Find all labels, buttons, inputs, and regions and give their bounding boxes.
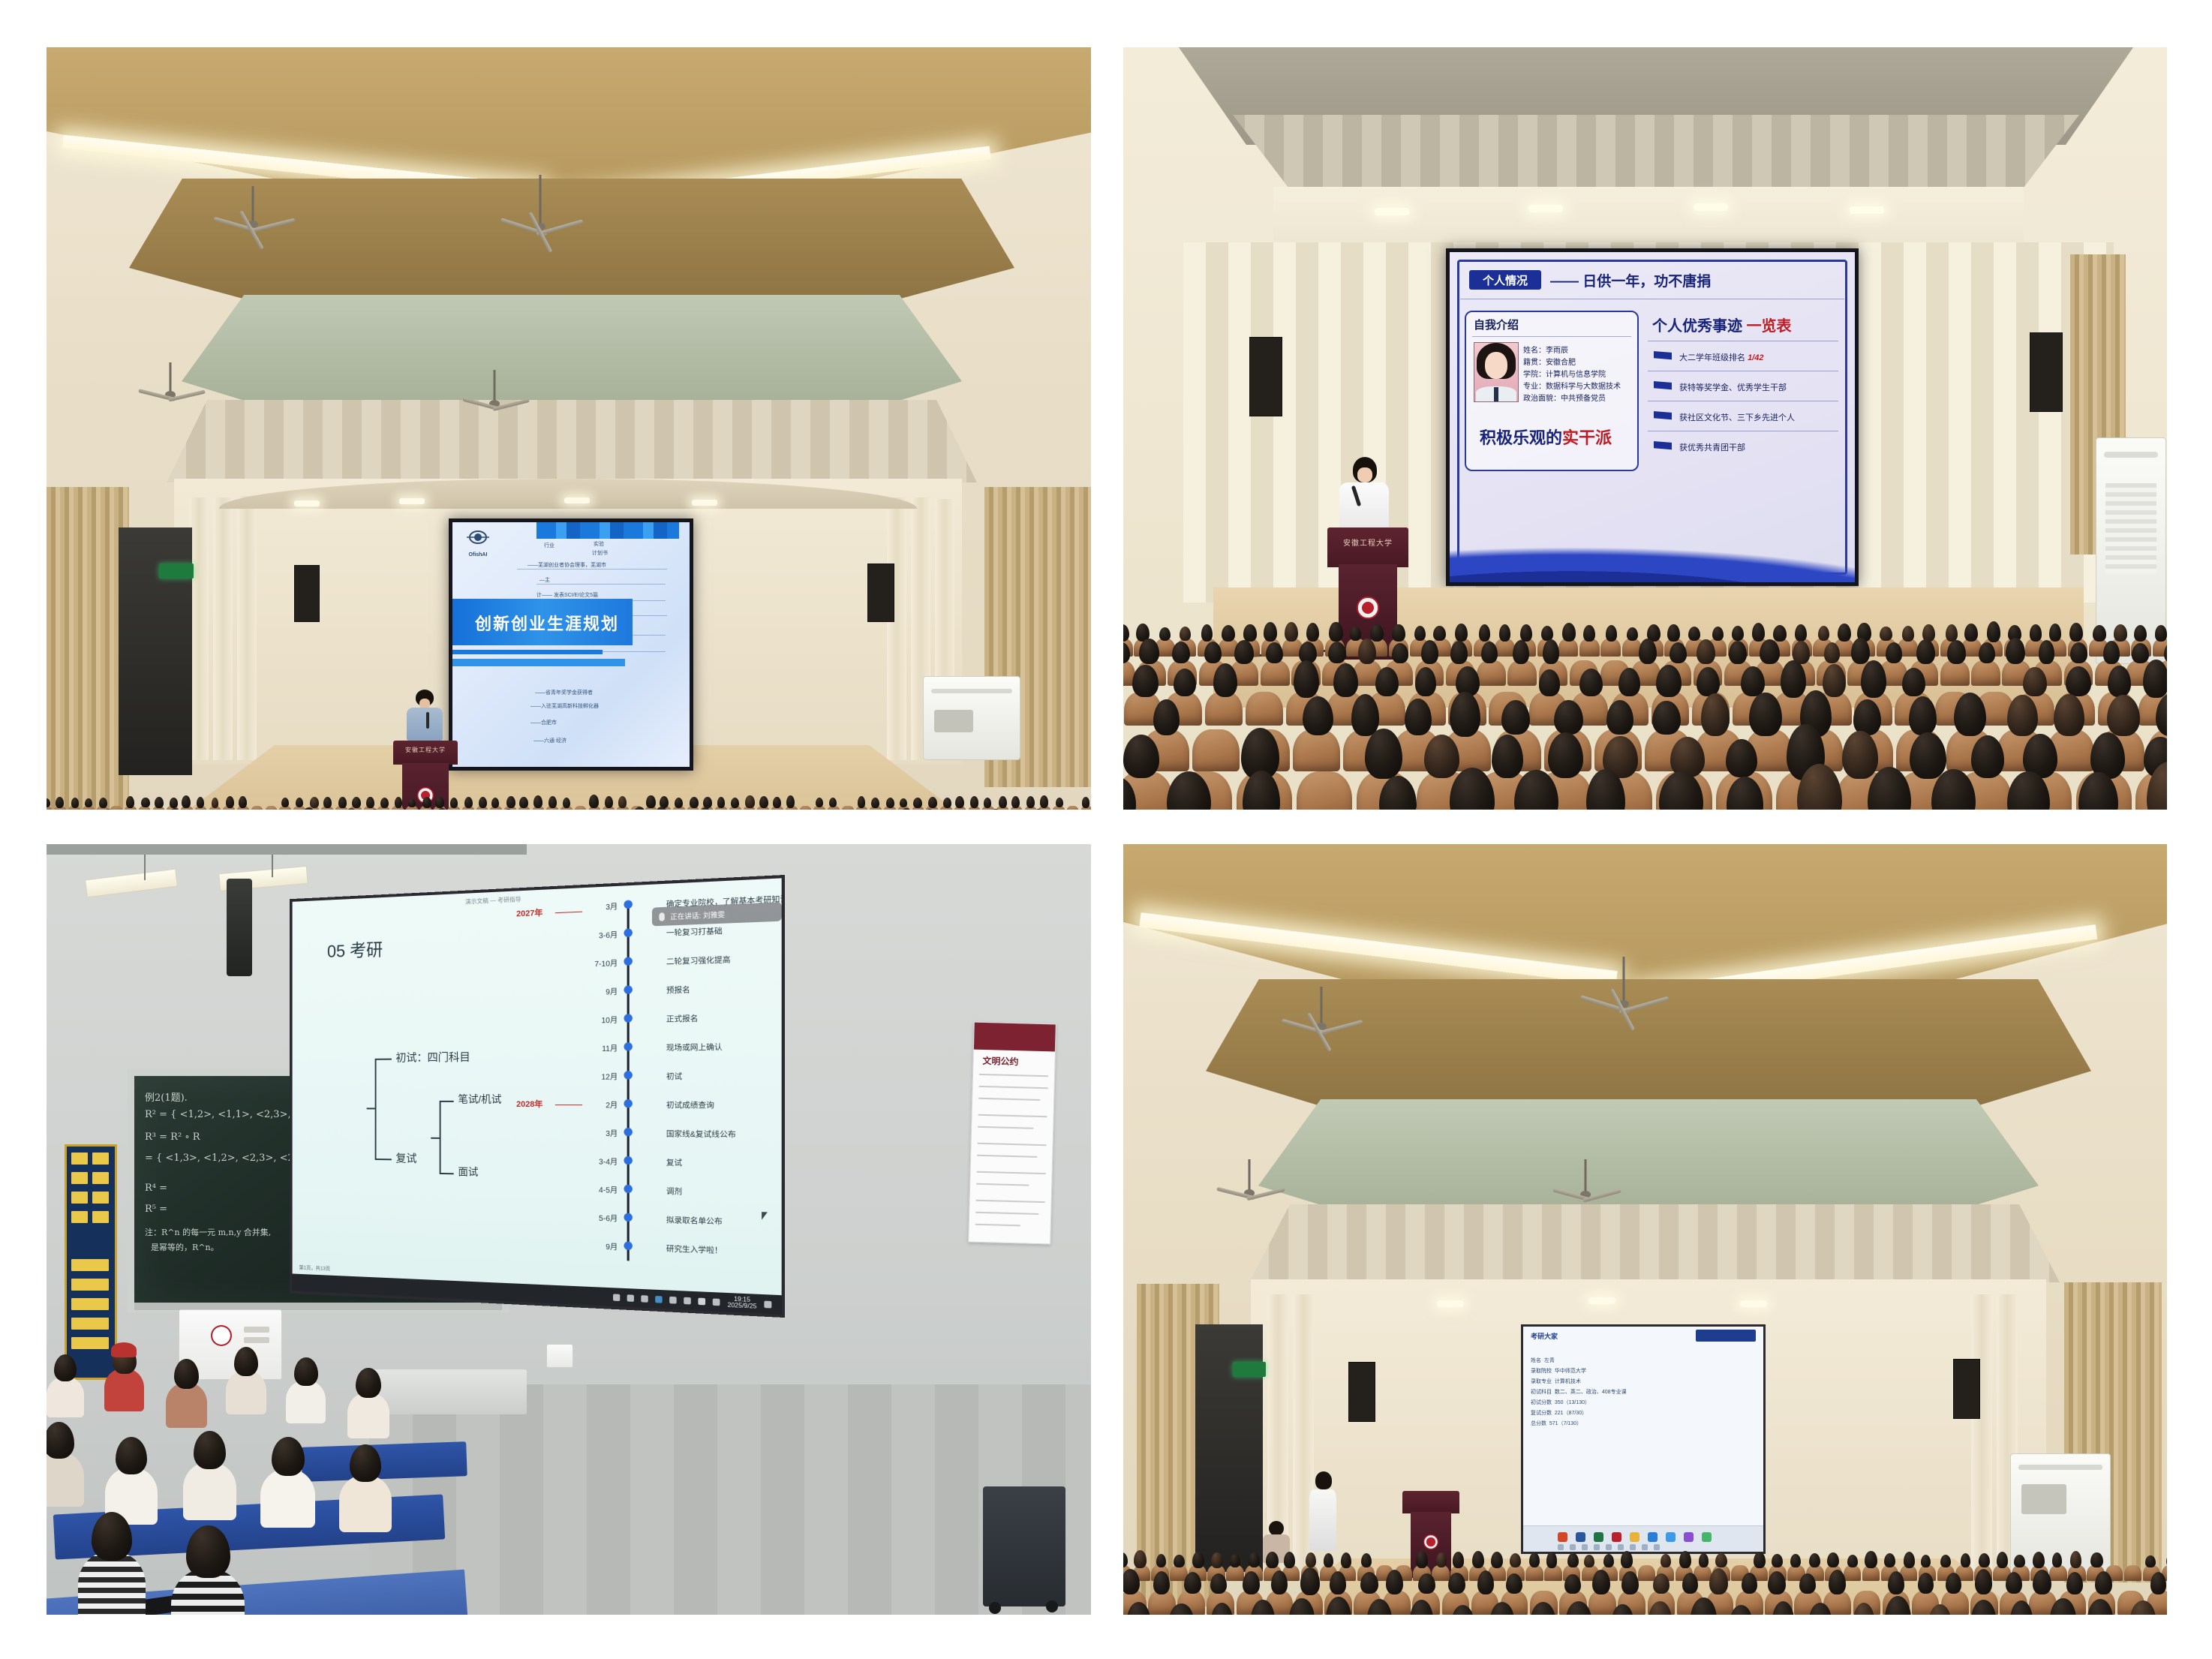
slide-line-2: 计—— 发表SCI/EI论文5篇: [536, 591, 598, 599]
profile-label-2: 学院：: [1523, 371, 1546, 379]
profile-value-1: 安徽合肥: [1546, 359, 1576, 367]
audience-head: [1405, 699, 1432, 735]
audience-head: [1172, 642, 1190, 663]
audience-head: [2107, 695, 2140, 735]
auditorium-seat: [110, 806, 123, 810]
audience-head: [1211, 1552, 1223, 1568]
projector-screen: 考研大家 姓名 左青 录取院校 华中师范大学 录取专业 计算机技术 初试科目 数…: [1521, 1324, 1766, 1554]
audience-head: [1082, 797, 1090, 807]
profile-row-1: 籍贯：安徽合肥: [1523, 356, 1576, 367]
auditorium-seat: [1226, 1565, 1244, 1581]
slide-wave-decoration: [1450, 503, 1855, 582]
student-torso: [226, 1371, 266, 1414]
timeline-month: 12月: [570, 1070, 618, 1082]
loudspeaker-icon: [294, 565, 320, 622]
tray-icon[interactable]: [1582, 1544, 1588, 1550]
audience-head: [2070, 642, 2087, 663]
slide-postgrad-timeline: 演示文稿 — 考研指导 05 考研 初试：四门科目 复试 笔试/机试 面试 20…: [293, 878, 782, 1314]
audience-head: [464, 797, 473, 808]
profile-value-2: 计算机与信息学院: [1546, 371, 1606, 379]
slide-line-7: ——入驻芜湖高新科技孵化器: [530, 702, 599, 710]
audience-head: [450, 798, 458, 808]
student-head: [350, 1444, 381, 1482]
display-icon[interactable]: [642, 1295, 648, 1303]
ceiling-rail: [47, 844, 527, 855]
slide-title-sub: 生涯规划: [547, 611, 619, 635]
timeline-event: 初试成绩查询: [666, 1098, 714, 1111]
audience-head: [1513, 640, 1529, 664]
ceiling-band-slats: [1206, 115, 2106, 197]
profile-row-2: 学院：计算机与信息学院: [1523, 368, 1606, 379]
audience-head: [1453, 1552, 1465, 1568]
app-icon[interactable]: [656, 1296, 663, 1303]
cursor-icon: [762, 1212, 771, 1220]
audience-head: [2006, 1572, 2022, 1594]
podium-venue-text: 安徽工程大学: [1327, 536, 1408, 548]
audience-head: [1918, 1573, 1934, 1594]
photo-panel-bottom-right: 考研大家 姓名 左青 录取院校 华中师范大学 录取专业 计算机技术 初试科目 数…: [1123, 844, 2167, 1615]
audience-head: [955, 796, 964, 808]
audience-head: [1829, 1570, 1847, 1594]
audience-head: [1652, 701, 1680, 735]
slide-row-0: 姓名 左青: [1531, 1357, 1555, 1364]
audience-head: [2132, 643, 2149, 663]
audience-head: [1243, 1571, 1260, 1594]
timeline-month: 2月: [570, 1098, 618, 1110]
podium-venue-text: 安徽工程大学: [393, 746, 458, 754]
auditorium-seat: [1261, 660, 1290, 687]
audience-head: [1234, 640, 1254, 663]
slide-tag: 个人情况: [1469, 270, 1541, 290]
auditorium-seat: [1600, 639, 1621, 657]
audience-head: [155, 797, 164, 807]
audience-head: [1416, 1551, 1428, 1568]
mail-icon[interactable]: [1666, 1532, 1676, 1542]
audience-head: [1712, 627, 1724, 642]
audience-head: [703, 797, 712, 808]
audience-head: [1947, 640, 1967, 664]
chalk-line: R⁵ =: [145, 1204, 167, 1215]
collage-canvas: OfishAI 行业 实验 计划书 ——芜湖创业者协会理事，芜湖市 —主 计——…: [0, 0, 2212, 1659]
ceiling-downlight: [1850, 206, 1884, 214]
achievement-row-3: 获优秀共青团干部: [1679, 441, 1745, 453]
audience-head: [1132, 665, 1158, 697]
fan-icon: [504, 175, 576, 244]
audience-head: [1621, 1551, 1633, 1568]
audience-head: [2093, 625, 2106, 641]
audience-head: [1699, 1553, 1709, 1567]
audience-head: [2014, 1555, 2024, 1567]
audience-head: [1961, 1553, 1971, 1567]
student-torso: [339, 1475, 392, 1532]
audience-head: [479, 797, 487, 808]
wall-column: [237, 496, 257, 760]
wall-column: [213, 497, 233, 760]
slide-row-value-6: 571（7/130）: [1549, 1421, 1582, 1426]
audience-head: [1303, 696, 1333, 735]
slide-row-label-2: 录取专业: [1531, 1379, 1552, 1384]
stage-led-screen: OfishAI 行业 实验 计划书 ——芜湖创业者协会理事，芜湖市 —主 计——…: [449, 518, 693, 771]
audience-area: [47, 805, 1091, 810]
word-icon[interactable]: [1576, 1532, 1585, 1542]
slide-logo-text: OfishAI: [460, 552, 496, 558]
audience-head: [1940, 1555, 1951, 1567]
auditorium-seat: [1246, 692, 1284, 726]
student-head: [186, 1525, 230, 1578]
audience-head: [1361, 1553, 1372, 1567]
taskbar-clock[interactable]: 19:15 2025/9/25: [728, 1296, 757, 1310]
loudspeaker-icon: [2030, 332, 2063, 412]
auditorium-seat: [1293, 729, 1340, 771]
audience-head: [1329, 622, 1342, 642]
audience-head: [1667, 624, 1679, 642]
wall-column: [887, 497, 906, 760]
loudspeaker-icon: [867, 564, 894, 622]
audience-head: [1448, 1573, 1465, 1594]
audience-head: [1888, 1571, 1904, 1594]
audience-head: [2066, 1572, 2083, 1594]
timeline-dot-icon: [624, 900, 632, 909]
tray-icon[interactable]: [1642, 1544, 1648, 1550]
audience-head: [690, 797, 699, 807]
audience-head: [1921, 1555, 1931, 1567]
timeline-event: 一轮复习打基础: [666, 924, 723, 938]
audience-head: [1350, 627, 1361, 641]
audience-head: [533, 795, 542, 808]
auditorium-seat: [2124, 1565, 2142, 1581]
notification-icon[interactable]: [764, 1300, 771, 1308]
audience-head: [646, 795, 655, 809]
slide-row-label-6: 总分数: [1531, 1421, 1546, 1426]
slide-row-value-3: 数二、英二、政治、408专业课: [1555, 1390, 1627, 1395]
audience-head: [1583, 625, 1594, 642]
audience-head: [618, 796, 627, 807]
timeline-event: 研究生入学啦！: [666, 1242, 723, 1255]
slide-row-label-1: 录取院校: [1531, 1369, 1552, 1374]
audience-head: [1772, 1554, 1783, 1567]
speaker-person: [405, 690, 444, 748]
audience-head: [970, 796, 978, 808]
exit-sign-icon: [1233, 1362, 1266, 1377]
slide-row-4: 初试分数 350（13/130）: [1531, 1399, 1590, 1406]
audience-head: [1861, 660, 1886, 698]
audience-head: [1809, 1553, 1820, 1568]
audience-head: [310, 797, 319, 808]
audience-head: [548, 796, 557, 807]
fan-icon: [143, 362, 198, 412]
audience-head: [408, 799, 416, 808]
tray-icon[interactable]: [1570, 1544, 1576, 1550]
audience-head: [1506, 1573, 1522, 1594]
audience-head: [1768, 1571, 1786, 1594]
audience-head: [2090, 1552, 2102, 1567]
powerpoint-icon[interactable]: [1558, 1532, 1567, 1542]
audience-head: [395, 797, 403, 808]
student-head: [174, 1359, 199, 1389]
audience-head: [2134, 625, 2147, 642]
university-emblem-icon: [1423, 1534, 1438, 1549]
slide-row-2: 录取专业 计算机技术: [1531, 1378, 1581, 1385]
network-icon[interactable]: [627, 1294, 634, 1302]
audience-head: [519, 797, 528, 808]
audience-head: [1567, 1553, 1578, 1568]
audience-head: [435, 797, 444, 808]
audience-head: [1853, 699, 1881, 735]
student-torso: [260, 1469, 315, 1528]
audience-head: [141, 798, 149, 808]
volume-icon[interactable]: [684, 1297, 692, 1304]
ac-unit-icon: [923, 676, 1020, 760]
audience-head: [943, 798, 951, 808]
achievements-title: 个人优秀事迹 一览表: [1652, 314, 1792, 335]
profile-row-4: 政治面貌：中共预备党员: [1523, 392, 1606, 403]
tray-icon[interactable]: [1558, 1544, 1564, 1550]
audience-head: [1603, 1554, 1614, 1567]
achievement-text-0: 大二学年班级排名: [1679, 353, 1745, 362]
audience-head: [1529, 1552, 1540, 1567]
curtain-left: [47, 487, 129, 810]
chat-icon[interactable]: [1702, 1532, 1712, 1542]
audience-head: [506, 796, 515, 808]
slide-personal-profile: 个人情况 —— 日供一年，功不唐捐 自我介绍 姓名：李雨辰 籍贯：安徽合肥: [1450, 252, 1855, 582]
loudspeaker-icon: [1348, 1362, 1375, 1422]
student-torso: [47, 1452, 84, 1507]
timeline-event: 二轮复习强化提高: [666, 953, 731, 966]
tray-icon[interactable]: [1606, 1544, 1612, 1550]
podium-top: [1402, 1491, 1459, 1513]
audience-head: [773, 797, 780, 808]
browser-icon[interactable]: [1648, 1532, 1657, 1542]
audience-head: [1351, 694, 1380, 736]
tray-icon[interactable]: [1654, 1544, 1660, 1550]
microphone-icon[interactable]: [670, 1296, 678, 1303]
audience-head: [1682, 1573, 1698, 1594]
achievements-title-red: 一览表: [1747, 318, 1792, 335]
timeline-month: 7-10月: [570, 957, 618, 969]
timeline-event: 初试: [666, 1070, 682, 1082]
red-cap: [111, 1342, 137, 1357]
student-torso: [104, 1369, 144, 1411]
profile-label-4: 政治面貌：: [1523, 395, 1561, 403]
audience-head: [1946, 624, 1958, 642]
audience-head: [2006, 638, 2025, 664]
audience-head: [1916, 639, 1934, 664]
tray-icon[interactable]: [1594, 1544, 1600, 1550]
keyboard-icon[interactable]: [713, 1298, 720, 1306]
audience-head: [1358, 639, 1376, 664]
fan-icon: [219, 186, 287, 246]
photo-panel-bottom-left: 例2(1题). R² = { <1,2>, <1,1>, <2,3>, <2,2…: [47, 844, 1091, 1615]
student-head: [294, 1357, 318, 1386]
slide-logo: OfishAI: [460, 528, 496, 551]
excel-icon[interactable]: [1594, 1532, 1603, 1542]
folder-icon[interactable]: [1630, 1532, 1639, 1542]
audience-head: [871, 798, 879, 808]
university-emblem-icon: [1357, 597, 1379, 619]
slide-title: 考研大家: [1531, 1331, 1558, 1341]
audience-head: [1436, 1552, 1447, 1567]
audience-head: [1300, 1567, 1320, 1594]
slide-band-accent-1: [452, 650, 603, 654]
profile-value-3: 数据科学与大数据技术: [1546, 383, 1621, 391]
timeline-month: 4-5月: [570, 1183, 618, 1195]
hanging-wire: [272, 855, 273, 877]
audience-head: [2155, 625, 2167, 641]
audience-head: [1592, 1570, 1610, 1594]
audience-head: [886, 798, 894, 808]
timeline-dot-icon: [624, 1099, 632, 1108]
slide-line-6: ——省青年奖学金获得者: [535, 689, 593, 696]
audience-head: [197, 797, 204, 808]
slide-line-9: ——六通 经济: [533, 737, 567, 744]
ceiling-band-inner: [1258, 1099, 2039, 1219]
audience-head: [1790, 1554, 1800, 1567]
audience-head: [745, 795, 754, 808]
audience-head: [1627, 627, 1638, 641]
audience-head: [366, 797, 374, 808]
audience-head: [1975, 1569, 1992, 1594]
audience-head: [1543, 639, 1560, 664]
slide-row-label-3: 初试科目: [1531, 1390, 1552, 1395]
clock-date: 2025/9/25: [728, 1303, 757, 1311]
tray-icon[interactable]: [1618, 1544, 1624, 1550]
audience-head: [900, 798, 907, 807]
audience-head: [1153, 1571, 1170, 1594]
student-torso: [78, 1552, 146, 1615]
audience-head: [1360, 1572, 1378, 1594]
pdf-icon[interactable]: [1612, 1532, 1621, 1542]
auditorium-seat: [1940, 660, 1970, 687]
audience-head: [1679, 1551, 1691, 1568]
timeline-dot-icon: [624, 1071, 632, 1079]
alcove-downlight: [1740, 1300, 1767, 1307]
fan-icon: [467, 370, 522, 419]
audience-head: [1584, 1555, 1594, 1567]
slide-row-3: 初试科目 数二、英二、政治、408专业课: [1531, 1388, 1627, 1396]
projector-screen: 演示文稿 — 考研指导 05 考研 初试：四门科目 复试 笔试/机试 面试 20…: [290, 875, 785, 1318]
audience-head: [759, 796, 768, 808]
audience-head: [1670, 642, 1687, 663]
auditorium-seat: [265, 806, 278, 810]
audience-head: [1174, 1555, 1184, 1567]
ime-icon[interactable]: [699, 1297, 706, 1305]
audience-head: [1306, 623, 1319, 642]
profile-label-1: 籍贯：: [1523, 359, 1546, 367]
auditorium-seat: [1971, 660, 2000, 687]
auditorium-seat: [1066, 806, 1080, 810]
auditorium-seat: [1579, 639, 1600, 657]
audience-head: [675, 798, 684, 808]
loudspeaker-icon: [1953, 1359, 1980, 1419]
audience-head: [1546, 1552, 1558, 1567]
alcove-downlight: [1588, 1297, 1615, 1304]
slide-row-value-2: 计算机技术: [1555, 1379, 1581, 1384]
auditorium-seat: [1432, 1565, 1450, 1581]
students-area: [47, 1324, 617, 1615]
audience-head: [1180, 627, 1192, 641]
audience-head: [1946, 1573, 1961, 1594]
player-icon[interactable]: [1684, 1532, 1694, 1542]
toast-text: 正在讲话: 刘雅雯: [670, 909, 725, 921]
slide-header-bars: [536, 522, 679, 539]
slide-row-label-0: 姓名: [1531, 1358, 1541, 1363]
tagline: 积极乐观的实干派: [1480, 425, 1612, 449]
photo-panel-top-left: OfishAI 行业 实验 计划书 ——芜湖创业者协会理事，芜湖市 —主 计——…: [47, 47, 1091, 810]
slide-line-8: ——合肥市: [530, 719, 557, 726]
audience-head: [1230, 1554, 1240, 1567]
wall-column: [1971, 1294, 1992, 1579]
timeline-month: 3月: [570, 1126, 618, 1138]
timeline-event: 预报名: [666, 983, 690, 995]
audience-head: [1979, 1553, 1990, 1567]
audience-head: [1324, 1553, 1334, 1567]
audience-head: [352, 797, 361, 808]
chevron-up-icon[interactable]: [613, 1294, 620, 1301]
audience-head: [1618, 668, 1640, 696]
audience-head: [1370, 624, 1384, 642]
poster-title: 文明公约: [982, 1054, 1018, 1068]
audience-head: [1139, 639, 1159, 664]
auditorium-seat: [841, 806, 855, 810]
auditorium-seat: [1477, 660, 1506, 687]
audience-head: [984, 798, 992, 808]
profile-value-0: 李雨辰: [1546, 347, 1568, 355]
slide-row-6: 总分数 571（7/130）: [1531, 1420, 1582, 1427]
audience-head: [913, 798, 922, 808]
fan-icon: [1557, 1159, 1614, 1210]
slide-admission-record: 考研大家 姓名 左青 录取院校 华中师范大学 录取专业 计算机技术 初试科目 数…: [1523, 1327, 1763, 1552]
timeline-month: 3月: [570, 900, 618, 913]
timeline-event: 国家线&复试线公布: [666, 1127, 736, 1139]
audience-head: [1904, 1552, 1916, 1568]
student-head: [47, 1422, 74, 1459]
timeline-dot-icon: [624, 1185, 632, 1194]
slide-header-rule: [1460, 299, 1844, 299]
timeline-dot-icon: [624, 1128, 632, 1136]
audience-head: [1192, 1552, 1204, 1568]
audience-head: [1201, 624, 1213, 642]
audience-head: [99, 798, 107, 808]
audience-head: [1285, 622, 1299, 642]
auditorium-seat: [1192, 729, 1240, 771]
tray-icon[interactable]: [1630, 1544, 1636, 1550]
audience-head: [1661, 1554, 1671, 1567]
timeline-month: 9月: [570, 1239, 618, 1252]
audience-head: [1499, 624, 1511, 642]
ceiling-downlight: [1528, 205, 1563, 212]
audience-head: [71, 798, 79, 807]
audience-head: [2070, 1551, 2081, 1568]
audience-head: [1799, 1573, 1816, 1594]
auditorium-seat: [1844, 1565, 1862, 1581]
auditorium-seat: [2049, 1565, 2067, 1581]
audience-head: [1249, 1552, 1260, 1567]
audience-head: [999, 796, 1008, 808]
auditorium-seat: [1525, 1565, 1543, 1581]
audience-head: [1539, 669, 1561, 696]
ceiling-band-slats: [1249, 1204, 2060, 1282]
trolley-wheel: [989, 1602, 1001, 1614]
app-taskbar[interactable]: [1523, 1525, 1763, 1552]
alcove-downlight: [564, 497, 590, 503]
timeline-dot-icon: [624, 1014, 632, 1022]
slide-col-a: 行业: [544, 542, 555, 549]
audience-head: [1884, 1553, 1896, 1568]
audience-head: [1795, 624, 1807, 642]
audience-head: [928, 797, 937, 808]
timeline-dot-icon: [624, 1241, 632, 1250]
audience-head: [296, 798, 303, 807]
